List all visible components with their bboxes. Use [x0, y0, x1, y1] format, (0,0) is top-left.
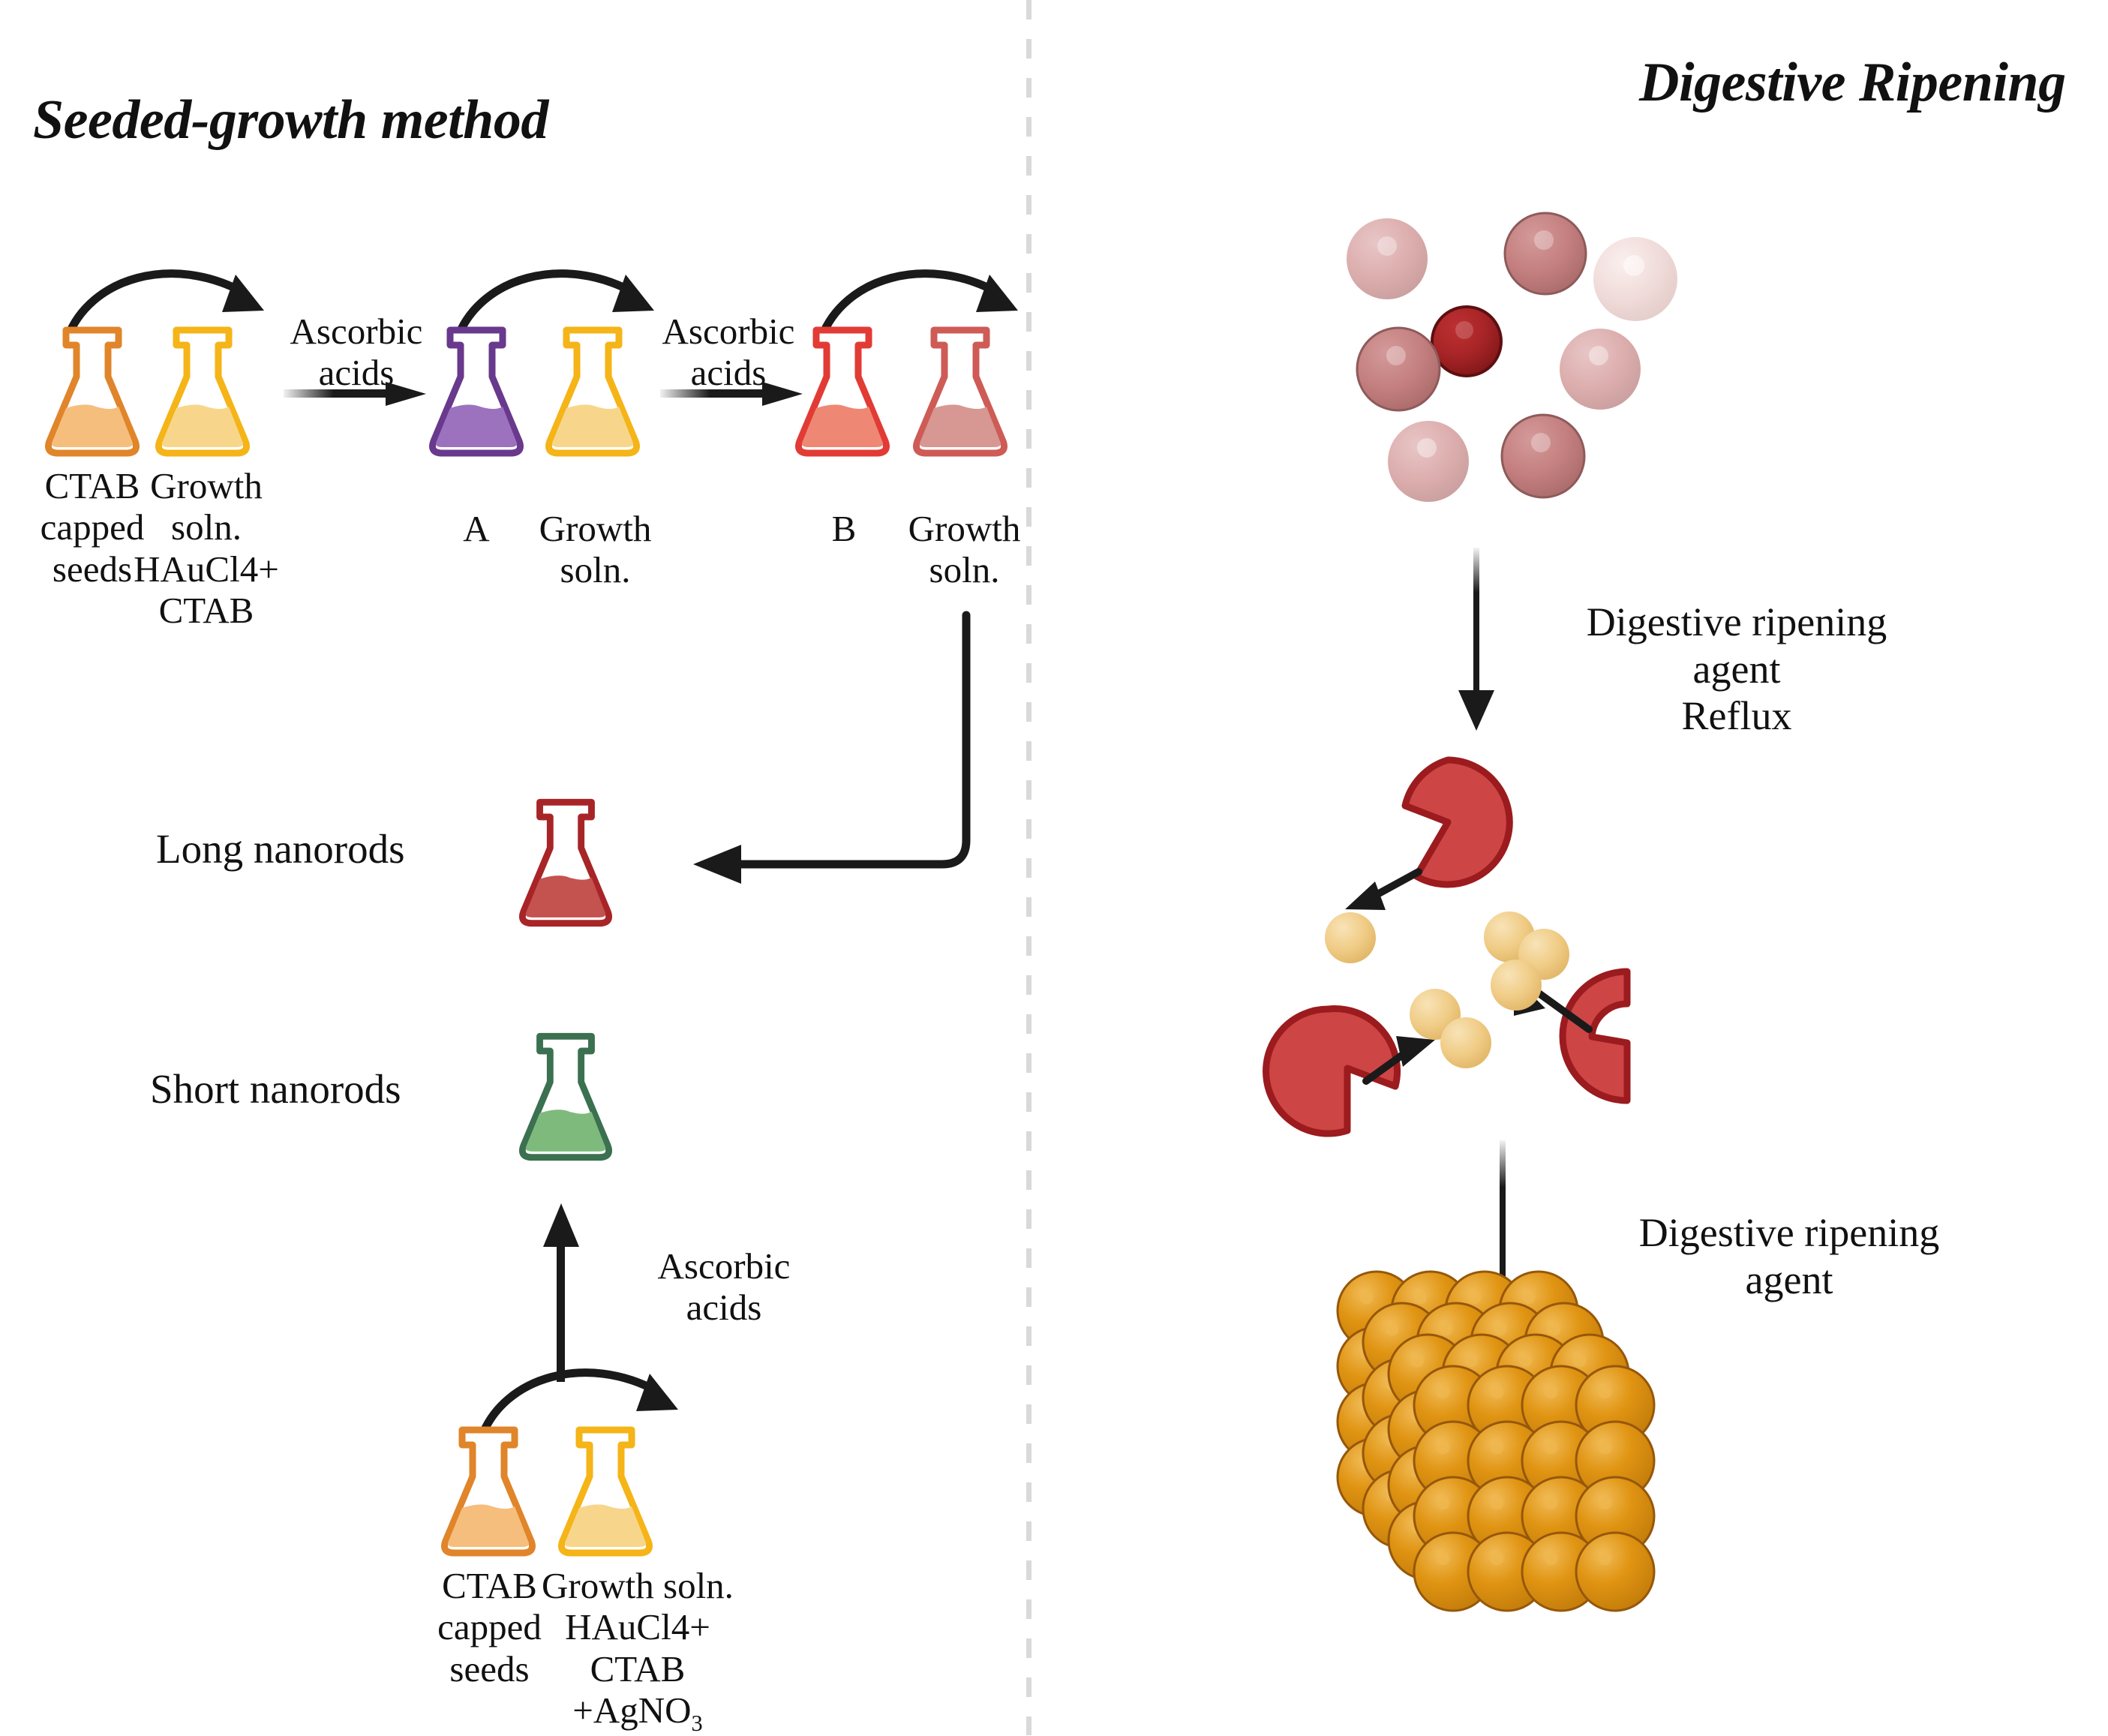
gold-sphere-highlight	[1545, 1440, 1558, 1454]
label-line-ctab: CTAB	[518, 1648, 758, 1689]
elbow-routing-arrow	[675, 608, 990, 878]
gold-sphere-highlight	[1437, 1496, 1450, 1509]
gold-sphere-highlight	[1437, 1385, 1450, 1398]
gold-sphere-highlight	[1414, 1290, 1428, 1304]
label-line-agno3: +AgNO3	[518, 1689, 758, 1736]
long-nanorods-label: Long nanorods	[156, 825, 404, 873]
gold-sphere-highlight	[1599, 1385, 1612, 1398]
gold-nanoparticle-sphere	[1576, 1533, 1654, 1611]
flask-B	[794, 324, 891, 459]
gold-sphere-highlight	[1465, 1353, 1479, 1367]
digestive-ripening-step1-label: Digestive ripening agent Reflux	[1508, 599, 1965, 740]
gold-sphere-highlight	[1386, 1322, 1399, 1335]
gold-sphere-highlight	[1437, 1440, 1450, 1454]
flask-growth-soln-agno3	[557, 1424, 654, 1559]
gold-sphere-highlight	[1599, 1551, 1612, 1565]
flask-A	[428, 324, 525, 459]
flask-label-growth-soln-3: Growth soln.	[884, 508, 1045, 591]
gold-sphere-highlight	[1360, 1290, 1374, 1304]
flask-ctab-capped-seeds-1	[44, 324, 141, 459]
gold-sphere-highlight	[1599, 1440, 1612, 1454]
gold-sphere-highlight	[1545, 1551, 1558, 1565]
digestive-ripening-etching-stage	[1260, 750, 1725, 1170]
digestive-ripening-arrow-1	[1455, 548, 1500, 735]
gold-sphere-highlight	[1491, 1551, 1504, 1565]
flask-short-nanorods	[518, 1029, 614, 1164]
short-nanorods-label: Short nanorods	[150, 1065, 401, 1113]
gold-sphere-highlight	[1522, 1290, 1536, 1304]
flask-label-growth-soln-2: Growth soln.	[515, 508, 676, 591]
digestive-ripening-step2-label: Digestive ripening agent	[1557, 1209, 2022, 1303]
gold-sphere-highlight	[1440, 1322, 1453, 1335]
flask-long-nanorods	[518, 795, 614, 930]
gold-sphere-highlight	[1491, 1385, 1504, 1398]
straight-reaction-arrow-1	[284, 379, 434, 409]
gold-sphere-highlight	[1545, 1385, 1558, 1398]
flask-growth-soln-2	[544, 324, 641, 459]
gold-sphere-highlight	[1548, 1322, 1561, 1335]
gold-sphere-highlight	[1545, 1496, 1558, 1509]
gold-sphere-highlight	[1519, 1353, 1533, 1367]
polydisperse-nanoparticle-cluster	[1335, 210, 1688, 525]
agno3-subscript: 3	[692, 1710, 703, 1736]
flask-growth-soln-1	[154, 324, 251, 459]
monodisperse-gold-nanoparticle-cube	[1318, 1324, 1686, 1677]
straight-reaction-arrow-2	[660, 379, 810, 409]
reagent-label-ascorbic-acids-3: Ascorbic acids	[630, 1245, 818, 1329]
label-line-growth-soln: Growth soln.	[518, 1565, 758, 1606]
flask-label-growth-soln-agno3: Growth soln. HAuCl4+ CTAB +AgNO3	[518, 1565, 758, 1736]
gold-sphere-highlight	[1468, 1290, 1482, 1304]
label-line-haucl4: HAuCl4+	[518, 1606, 758, 1647]
gold-sphere-highlight	[1573, 1353, 1587, 1367]
gold-sphere-highlight	[1494, 1322, 1507, 1335]
gold-sphere-highlight	[1437, 1551, 1450, 1565]
flask-label-growth-soln-1: Growth soln. HAuCl4+ CTAB	[113, 465, 300, 631]
left-panel-title: Seeded-growth method	[33, 89, 548, 152]
gold-sphere-highlight	[1491, 1496, 1504, 1509]
gold-sphere-highlight	[1411, 1353, 1425, 1367]
flask-growth-soln-3	[911, 324, 1009, 459]
flask-ctab-capped-seeds-2	[440, 1424, 537, 1559]
gold-sphere-highlight	[1491, 1440, 1504, 1454]
agno3-prefix: +AgNO	[572, 1689, 691, 1731]
right-panel-title: Digestive Ripening	[1639, 51, 2066, 115]
gold-sphere-highlight	[1599, 1496, 1612, 1509]
